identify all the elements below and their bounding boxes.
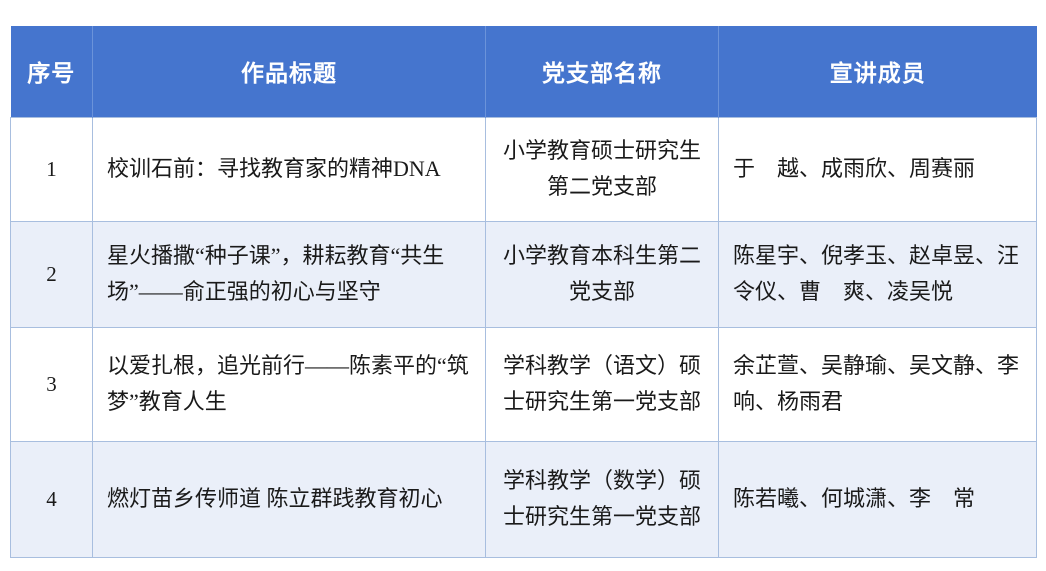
cell-branch: 学科教学（数学）硕士研究生第一党支部 [486, 441, 719, 557]
cell-branch: 小学教育硕士研究生第二党支部 [486, 117, 719, 221]
column-header-index: 序号 [11, 26, 93, 117]
cell-members: 陈若曦、何城潇、李 常 [719, 441, 1037, 557]
cell-index: 3 [11, 327, 93, 441]
table-header: 序号 作品标题 党支部名称 宣讲成员 [11, 26, 1037, 117]
column-header-members: 宣讲成员 [719, 26, 1037, 117]
cell-title: 星火播撒“种子课”，耕耘教育“共生场”——俞正强的初心与坚守 [93, 221, 486, 327]
table-row: 1 校训石前：寻找教育家的精神DNA 小学教育硕士研究生第二党支部 于 越、成雨… [11, 117, 1037, 221]
cell-members: 于 越、成雨欣、周赛丽 [719, 117, 1037, 221]
presentation-entries-table-container: 序号 作品标题 党支部名称 宣讲成员 1 校训石前：寻找教育家的精神DNA 小学… [10, 26, 1036, 558]
table-row: 4 燃灯苗乡传师道 陈立群践教育初心 学科教学（数学）硕士研究生第一党支部 陈若… [11, 441, 1037, 557]
cell-title: 燃灯苗乡传师道 陈立群践教育初心 [93, 441, 486, 557]
cell-title: 校训石前：寻找教育家的精神DNA [93, 117, 486, 221]
cell-branch: 小学教育本科生第二党支部 [486, 221, 719, 327]
column-header-branch: 党支部名称 [486, 26, 719, 117]
table-row: 3 以爱扎根，追光前行——陈素平的“筑梦”教育人生 学科教学（语文）硕士研究生第… [11, 327, 1037, 441]
cell-members: 陈星宇、倪孝玉、赵卓昱、汪令仪、曹 爽、凌吴悦 [719, 221, 1037, 327]
table-body: 1 校训石前：寻找教育家的精神DNA 小学教育硕士研究生第二党支部 于 越、成雨… [11, 117, 1037, 557]
presentation-entries-table: 序号 作品标题 党支部名称 宣讲成员 1 校训石前：寻找教育家的精神DNA 小学… [10, 26, 1037, 558]
cell-index: 4 [11, 441, 93, 557]
cell-index: 1 [11, 117, 93, 221]
table-header-row: 序号 作品标题 党支部名称 宣讲成员 [11, 26, 1037, 117]
table-row: 2 星火播撒“种子课”，耕耘教育“共生场”——俞正强的初心与坚守 小学教育本科生… [11, 221, 1037, 327]
cell-title: 以爱扎根，追光前行——陈素平的“筑梦”教育人生 [93, 327, 486, 441]
cell-branch: 学科教学（语文）硕士研究生第一党支部 [486, 327, 719, 441]
cell-index: 2 [11, 221, 93, 327]
cell-members: 余芷萱、吴静瑜、吴文静、李 响、杨雨君 [719, 327, 1037, 441]
column-header-title: 作品标题 [93, 26, 486, 117]
